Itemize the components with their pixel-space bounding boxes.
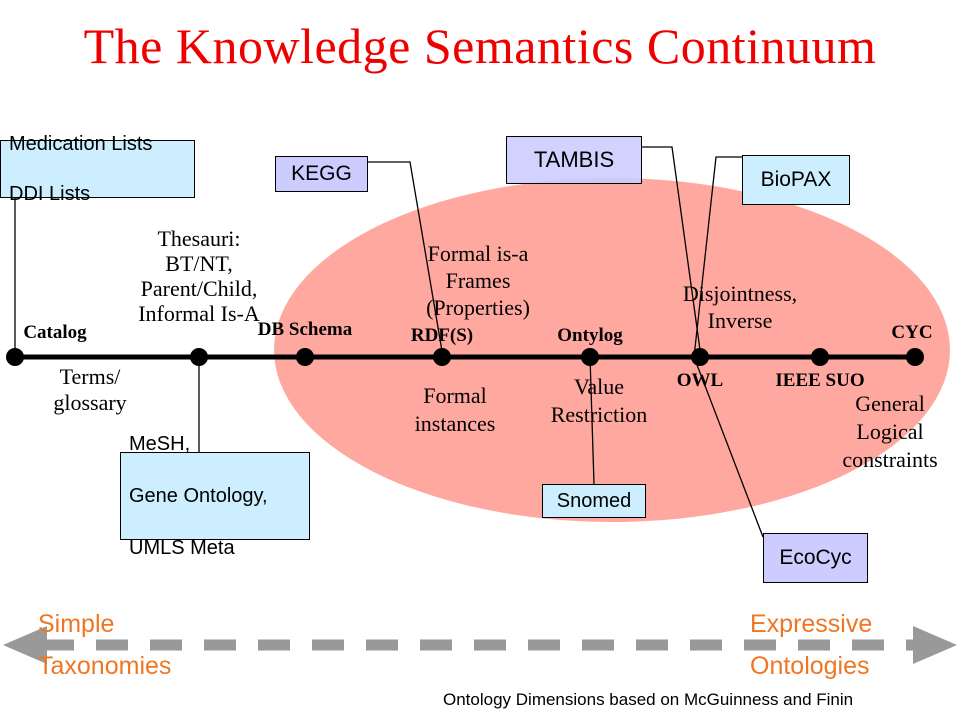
annotation-thesauri-line3: Parent/Child,: [141, 276, 258, 301]
axis-node-cyc[interactable]: [906, 348, 924, 366]
box-tambis[interactable]: TAMBIS: [506, 136, 642, 184]
source-caption: Ontology Dimensions based on McGuinness …: [443, 690, 853, 710]
axis-label-ieee-suo: IEEE SUO: [750, 370, 890, 392]
annotation-vr-line2: Restriction: [551, 402, 648, 427]
axis-node-owl[interactable]: [691, 348, 709, 366]
axis-node-ieee-suo[interactable]: [811, 348, 829, 366]
legend-taxonomies: Taxonomies: [38, 652, 171, 681]
annotation-formal-line3: (Properties): [426, 295, 530, 320]
box-snomed[interactable]: Snomed: [542, 484, 646, 518]
box-tambis-label: TAMBIS: [507, 147, 641, 173]
box-biopax[interactable]: BioPAX: [742, 155, 850, 205]
annotation-value-restriction: Value Restriction: [519, 373, 679, 429]
annotation-terms-line1: Terms/: [60, 364, 121, 389]
box-medication-lists[interactable]: Medication ListsDDI Lists: [0, 140, 195, 198]
box-ecocyc-label: EcoCyc: [764, 546, 867, 570]
box-medication-lists-line1: Medication Lists: [9, 132, 194, 157]
box-mesh-line1: MeSH,: [129, 431, 309, 457]
box-mesh[interactable]: MeSH,Gene Ontology,UMLS Meta: [120, 452, 310, 540]
axis-node-rdfs[interactable]: [433, 348, 451, 366]
annotation-vr-line1: Value: [574, 374, 624, 399]
legend-expressive: Expressive: [750, 610, 872, 639]
annotation-dis-line1: Disjointness,: [683, 281, 797, 306]
axis-label-catalog: Catalog: [0, 322, 110, 344]
annotation-formal-instances: Formal instances: [380, 382, 530, 438]
axis-node-thesauri[interactable]: [190, 348, 208, 366]
legend-simple: Simple: [38, 610, 114, 639]
legend-ontologies: Ontologies: [750, 652, 870, 681]
slide-canvas: The Knowledge Semantics Continuum: [0, 0, 960, 720]
box-snomed-label: Snomed: [543, 490, 645, 513]
annotation-finst-line2: instances: [415, 411, 496, 436]
annotation-dis-line2: Inverse: [708, 308, 773, 333]
annotation-terms-line2: glossary: [53, 390, 126, 415]
axis-label-cyc: CYC: [862, 322, 960, 344]
annotation-formal-isa: Formal is-a Frames (Properties): [383, 240, 573, 321]
annotation-thesauri-line1: Thesauri:: [157, 226, 240, 251]
axis-label-ontylog: Ontylog: [530, 325, 650, 347]
annotation-gl-line3: constraints: [842, 447, 937, 472]
box-medication-lists-line2: DDI Lists: [9, 182, 194, 207]
annotation-gl-line2: Logical: [856, 419, 923, 444]
annotation-general-logical: General Logical constraints: [820, 390, 960, 474]
annotation-disjointness: Disjointness, Inverse: [635, 280, 845, 334]
annotation-thesauri: Thesauri: BT/NT, Parent/Child, Informal …: [104, 226, 294, 326]
axis-label-rdfs: RDF(S): [382, 325, 502, 347]
annotation-terms-glossary: Terms/ glossary: [20, 364, 160, 416]
axis-node-ontylog[interactable]: [581, 348, 599, 366]
annotation-finst-line1: Formal: [423, 383, 487, 408]
box-biopax-label: BioPAX: [743, 168, 849, 192]
box-ecocyc[interactable]: EcoCyc: [763, 533, 868, 583]
box-kegg[interactable]: KEGG: [275, 156, 368, 192]
annotation-formal-line2: Frames: [446, 268, 511, 293]
annotation-thesauri-line2: BT/NT,: [165, 251, 232, 276]
axis-node-db-schema[interactable]: [296, 348, 314, 366]
box-mesh-line3: UMLS Meta: [129, 535, 309, 561]
annotation-gl-line1: General: [855, 391, 925, 416]
annotation-formal-line1: Formal is-a: [428, 241, 529, 266]
box-mesh-text: MeSH,Gene Ontology,UMLS Meta: [129, 431, 309, 561]
box-mesh-line2: Gene Ontology,: [129, 483, 309, 509]
box-kegg-label: KEGG: [276, 162, 367, 186]
box-medication-lists-text: Medication ListsDDI Lists: [9, 132, 194, 207]
annotation-thesauri-line4: Informal Is-A: [138, 301, 260, 326]
